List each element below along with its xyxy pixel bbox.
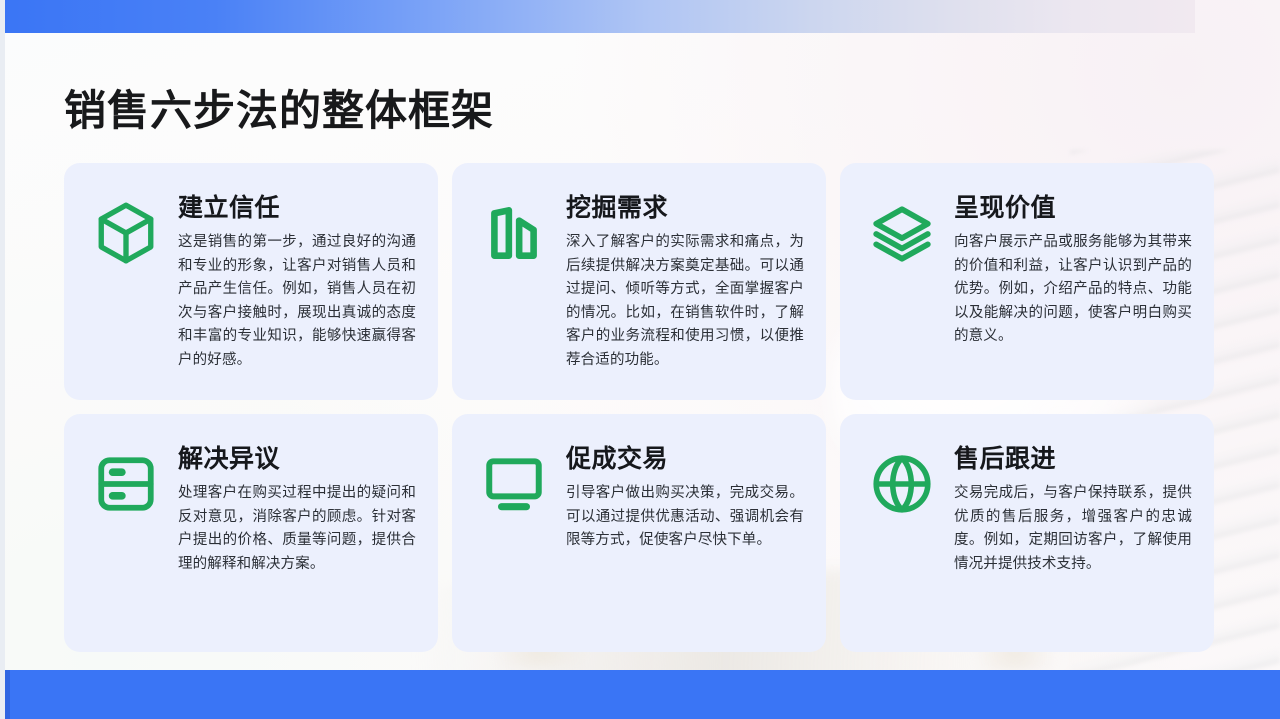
card-text: 售后跟进 交易完成后，与客户保持联系，提供优质的售后服务，增强客户的忠诚度。例如… bbox=[954, 442, 1192, 576]
card-title: 挖掘需求 bbox=[566, 191, 804, 225]
card-text: 解决异议 处理客户在购买过程中提出的疑问和反对意见，消除客户的顾虑。针对客户提出… bbox=[178, 442, 416, 576]
card-item[interactable]: 呈现价值 向客户展示产品或服务能够为其带来的价值和利益，让客户认识到产品的优势。… bbox=[840, 163, 1214, 400]
card-text: 呈现价值 向客户展示产品或服务能够为其带来的价值和利益，让客户认识到产品的优势。… bbox=[954, 191, 1192, 349]
card-title: 解决异议 bbox=[178, 442, 416, 476]
bottom-accent-bar bbox=[5, 670, 1280, 719]
slide-canvas: 销售六步法的整体框架 建立信任 这是销售的第一步，通过良好的沟通和专业的形象，让… bbox=[0, 0, 1280, 719]
card-description: 深入了解客户的实际需求和痛点，为后续提供解决方案奠定基础。可以通过提问、倾听等方… bbox=[566, 231, 804, 372]
bottom-bar-edge bbox=[5, 670, 10, 719]
card-description: 交易完成后，与客户保持联系，提供优质的售后服务，增强客户的忠诚度。例如，定期回访… bbox=[954, 482, 1192, 576]
card-title: 建立信任 bbox=[178, 191, 416, 225]
page-title: 销售六步法的整体框架 bbox=[64, 84, 494, 138]
card-title: 促成交易 bbox=[566, 442, 804, 476]
card-description: 处理客户在购买过程中提出的疑问和反对意见，消除客户的顾虑。针对客户提出的价格、质… bbox=[178, 482, 416, 576]
card-item[interactable]: 促成交易 引导客户做出购买决策，完成交易。可以通过提供优惠活动、强调机会有限等方… bbox=[452, 414, 826, 652]
card-title: 售后跟进 bbox=[954, 442, 1192, 476]
card-item[interactable]: 解决异议 处理客户在购买过程中提出的疑问和反对意见，消除客户的顾虑。针对客户提出… bbox=[64, 414, 438, 652]
card-text: 建立信任 这是销售的第一步，通过良好的沟通和专业的形象，让客户对销售人员和产品产… bbox=[178, 191, 416, 372]
layers-icon bbox=[866, 197, 938, 269]
server-icon bbox=[90, 448, 162, 520]
card-text: 挖掘需求 深入了解客户的实际需求和痛点，为后续提供解决方案奠定基础。可以通过提问… bbox=[566, 191, 804, 372]
card-title: 呈现价值 bbox=[954, 191, 1192, 225]
card-item[interactable]: 售后跟进 交易完成后，与客户保持联系，提供优质的售后服务，增强客户的忠诚度。例如… bbox=[840, 414, 1214, 652]
top-accent-bar bbox=[0, 0, 1195, 33]
monitor-icon bbox=[478, 448, 550, 520]
card-grid: 建立信任 这是销售的第一步，通过良好的沟通和专业的形象，让客户对销售人员和产品产… bbox=[64, 163, 1214, 652]
left-edge-rule bbox=[0, 0, 5, 719]
globe-icon bbox=[866, 448, 938, 520]
card-item[interactable]: 挖掘需求 深入了解客户的实际需求和痛点，为后续提供解决方案奠定基础。可以通过提问… bbox=[452, 163, 826, 400]
card-item[interactable]: 建立信任 这是销售的第一步，通过良好的沟通和专业的形象，让客户对销售人员和产品产… bbox=[64, 163, 438, 400]
bar-building-icon bbox=[478, 197, 550, 269]
card-description: 这是销售的第一步，通过良好的沟通和专业的形象，让客户对销售人员和产品产生信任。例… bbox=[178, 231, 416, 372]
card-text: 促成交易 引导客户做出购买决策，完成交易。可以通过提供优惠活动、强调机会有限等方… bbox=[566, 442, 804, 553]
card-description: 引导客户做出购买决策，完成交易。可以通过提供优惠活动、强调机会有限等方式，促使客… bbox=[566, 482, 804, 553]
card-description: 向客户展示产品或服务能够为其带来的价值和利益，让客户认识到产品的优势。例如，介绍… bbox=[954, 231, 1192, 349]
cube-icon bbox=[90, 197, 162, 269]
